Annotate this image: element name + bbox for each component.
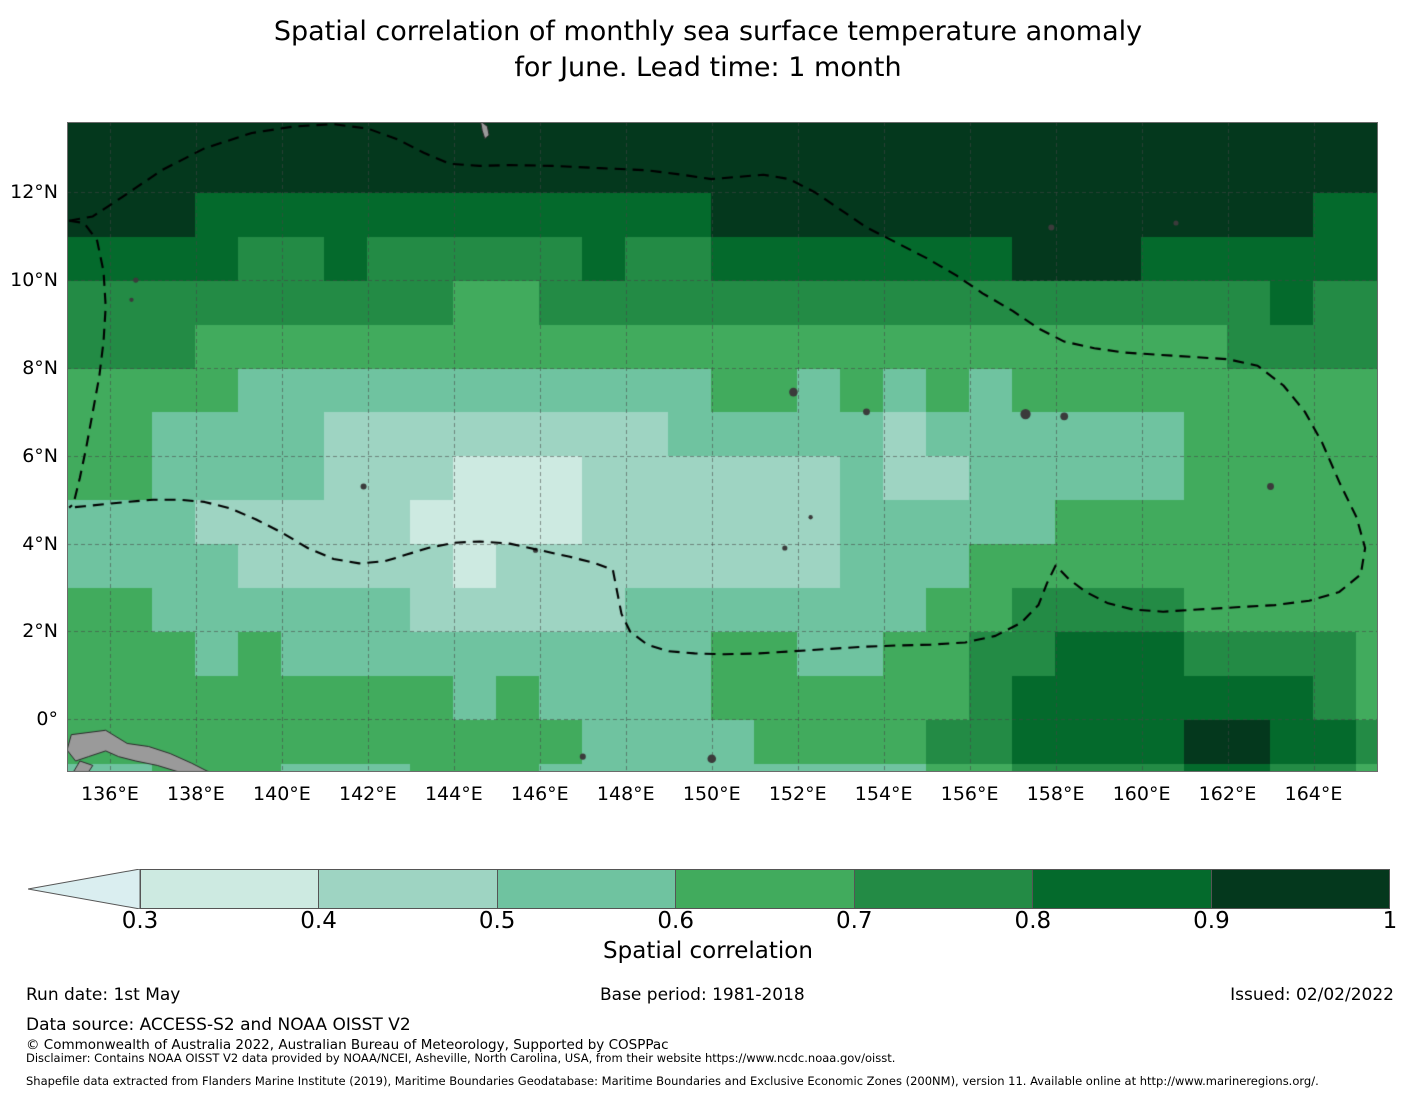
x-tick-label: 140°E	[253, 783, 311, 805]
data-source: Data source: ACCESS-S2 and NOAA OISST V2	[26, 1015, 411, 1035]
x-tick-label: 150°E	[683, 783, 741, 805]
run-date: Run date: 1st May	[26, 985, 180, 1005]
colorbar-tick-label: 0.5	[479, 908, 516, 934]
y-tick-label: 10°N	[0, 269, 58, 291]
x-tick-label: 138°E	[167, 783, 225, 805]
title-line-2: for June. Lead time: 1 month	[0, 50, 1416, 86]
y-tick-label: 4°N	[0, 533, 58, 555]
colorbar-tick-label: 0.6	[657, 908, 694, 934]
disclaimer-text: Disclaimer: Contains NOAA OISST V2 data …	[26, 1051, 895, 1065]
y-tick-label: 8°N	[0, 357, 58, 379]
colorbar-segments	[140, 869, 1390, 909]
y-tick-label: 0°	[0, 708, 58, 730]
x-tick-label: 142°E	[339, 783, 397, 805]
x-tick-label: 146°E	[511, 783, 569, 805]
x-tick-label: 158°E	[1027, 783, 1085, 805]
x-axis-labels: 136°E138°E140°E142°E144°E146°E148°E150°E…	[0, 783, 1416, 813]
x-tick-label: 164°E	[1285, 783, 1343, 805]
colorbar-ticks: 0.30.40.50.60.70.80.91	[0, 908, 1416, 940]
colorbar-segment-0	[141, 870, 319, 908]
colorbar-segment-1	[319, 870, 497, 908]
colorbar-tick-label: 0.7	[836, 908, 873, 934]
correlation-heatmap-canvas	[67, 122, 1378, 772]
x-tick-label: 136°E	[81, 783, 139, 805]
map-plot-area	[67, 122, 1378, 772]
colorbar-segment-2	[498, 870, 676, 908]
colorbar-label: Spatial correlation	[0, 938, 1416, 964]
x-tick-label: 160°E	[1113, 783, 1171, 805]
x-tick-label: 144°E	[425, 783, 483, 805]
y-tick-label: 2°N	[0, 620, 58, 642]
shapefile-attribution: Shapefile data extracted from Flanders M…	[26, 1074, 1319, 1088]
x-tick-label: 152°E	[769, 783, 827, 805]
footer-meta-row: Run date: 1st May Base period: 1981-2018…	[0, 985, 1416, 1009]
colorbar-segment-4	[855, 870, 1033, 908]
x-tick-label: 148°E	[597, 783, 655, 805]
page-title: Spatial correlation of monthly sea surfa…	[0, 14, 1416, 86]
colorbar-segment-5	[1033, 870, 1211, 908]
colorbar-tick-label: 1	[1383, 908, 1398, 934]
title-line-1: Spatial correlation of monthly sea surfa…	[0, 14, 1416, 50]
colorbar-segment-3	[676, 870, 854, 908]
colorbar-tick-label: 0.4	[300, 908, 337, 934]
y-tick-label: 6°N	[0, 445, 58, 467]
x-tick-label: 162°E	[1199, 783, 1257, 805]
colorbar-tick-label: 0.8	[1015, 908, 1052, 934]
x-tick-label: 154°E	[855, 783, 913, 805]
colorbar	[0, 866, 1416, 912]
x-tick-label: 156°E	[941, 783, 999, 805]
issued-date: Issued: 02/02/2022	[1230, 985, 1394, 1005]
colorbar-tick-label: 0.3	[122, 908, 159, 934]
base-period: Base period: 1981-2018	[600, 985, 805, 1005]
y-tick-label: 12°N	[0, 181, 58, 203]
colorbar-segment-6	[1212, 870, 1389, 908]
colorbar-extend-arrow	[28, 869, 142, 909]
colorbar-tick-label: 0.9	[1193, 908, 1230, 934]
